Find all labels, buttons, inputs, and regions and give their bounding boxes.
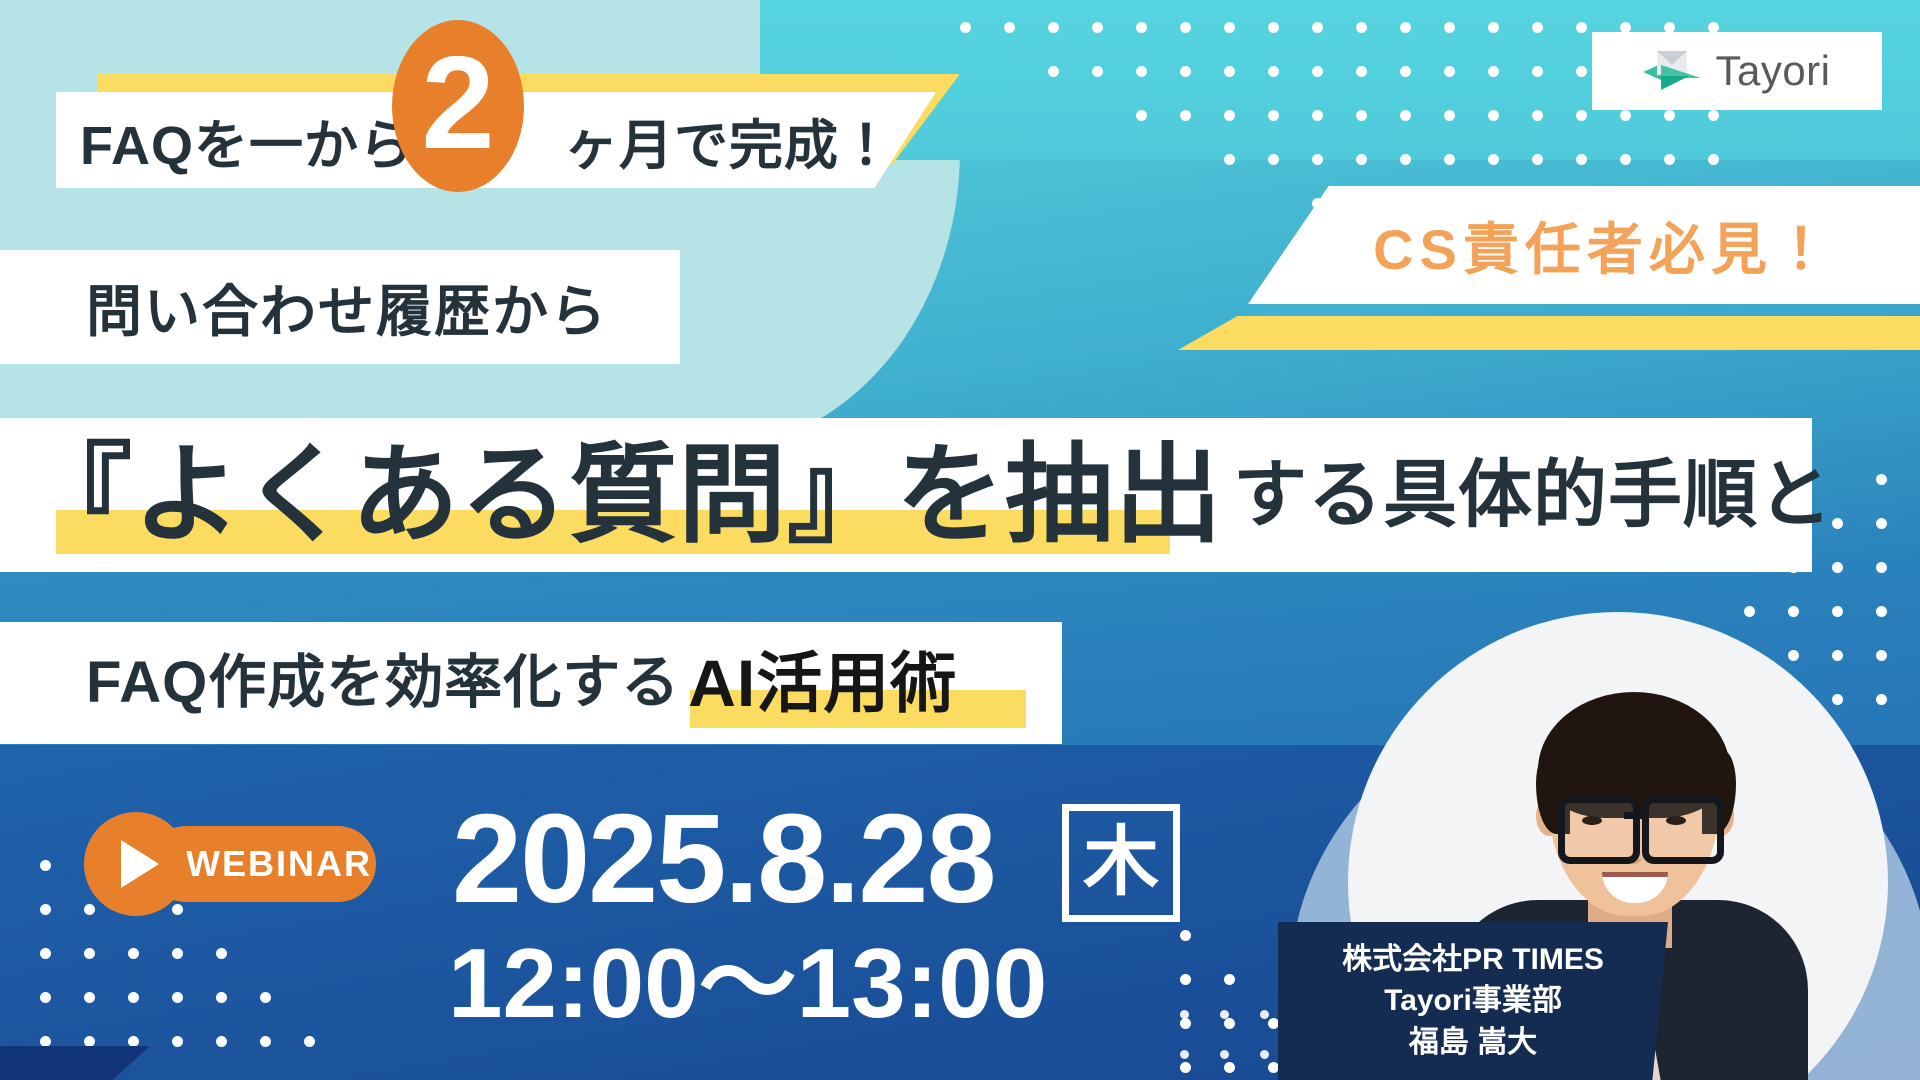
glasses-lens-right-icon: [1642, 796, 1724, 864]
portrait-eye-right: [1666, 816, 1686, 825]
play-triangle-icon: [121, 840, 159, 888]
paper-plane-envelope-icon: [1643, 49, 1701, 93]
play-icon[interactable]: [84, 812, 188, 916]
main-title-rest: する具体的手順と: [1233, 458, 1833, 532]
headline-1-before: FAQを一から: [80, 101, 414, 180]
headline-1-number-badge: 2: [392, 20, 524, 192]
webinar-banner: Tayori FAQを一から ヶ月で完成！ 2 CS責任者必見！ 問い合わせ履歴…: [0, 0, 1920, 1080]
headline-4-emphasis: AI活用術: [688, 650, 957, 716]
logo-wordmark: Tayori: [1715, 47, 1830, 95]
speaker-company: 株式会社PR TIMES: [1342, 941, 1604, 979]
headline-4-prefix: FAQ作成を効率化する: [86, 654, 680, 712]
speaker-division: Tayori事業部: [1384, 982, 1562, 1020]
event-time: 12:00〜13:00: [448, 930, 1047, 1038]
speaker-name-plate: 株式会社PR TIMES Tayori事業部 福島 嵩大: [1278, 922, 1668, 1080]
headline-2-text: 問い合わせ履歴から: [0, 267, 608, 348]
cs-badge-label: CS責任者必見！: [1333, 205, 1835, 286]
headline-1-number: 2: [421, 37, 494, 169]
speaker-name: 福島 嵩大: [1409, 1024, 1537, 1062]
event-weekday-box: 木: [1062, 804, 1180, 922]
main-title-emphasis: 『よくある質問』を抽出: [24, 441, 1223, 549]
headline-2-white-bar: 問い合わせ履歴から: [0, 250, 680, 364]
glasses-bridge-icon: [1624, 812, 1646, 819]
headline-4: FAQ作成を効率化する AI活用術: [0, 622, 1062, 744]
portrait-eye-left: [1582, 816, 1602, 825]
cs-badge-yellow-bar: [1178, 316, 1920, 350]
main-title: 『よくある質問』を抽出 する具体的手順と: [0, 418, 1812, 572]
tayori-logo[interactable]: Tayori: [1592, 32, 1882, 110]
cs-badge: CS責任者必見！: [1248, 186, 1920, 304]
event-date: 2025.8.28: [452, 790, 995, 929]
event-weekday: 木: [1083, 825, 1159, 901]
glasses-lens-left-icon: [1558, 796, 1640, 864]
headline-1-after: ヶ月で完成！: [564, 101, 894, 180]
